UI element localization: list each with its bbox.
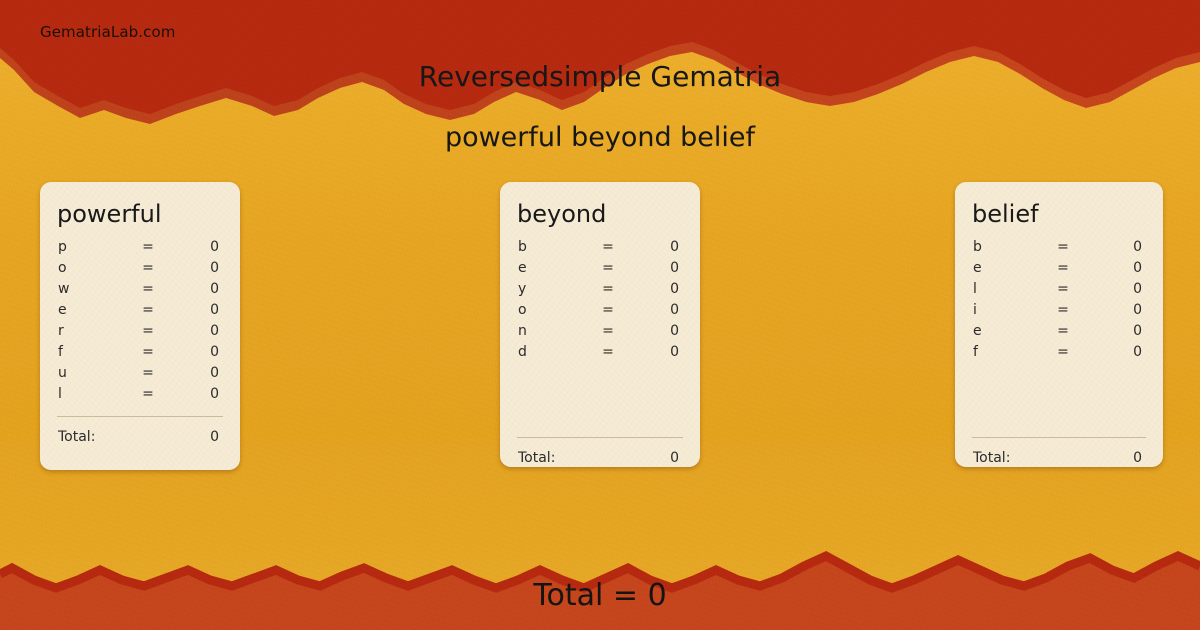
equals-sign: = [586,239,630,255]
letter-value: 0 [170,302,226,318]
word-card: belief b = 0 e = 0 l = 0 [955,182,1163,467]
equals-sign: = [586,344,630,360]
letter-value: 0 [170,281,226,297]
letter: d [514,344,586,360]
card-word-title: belief [969,202,1149,227]
letter: n [514,323,586,339]
letter-row: f = 0 [54,344,226,365]
card-word-title: powerful [54,202,226,227]
letter-value: 0 [1085,323,1149,339]
letter-rows: p = 0 o = 0 w = 0 e [54,239,226,407]
equals-sign: = [126,302,170,318]
letter-value: 0 [630,281,686,297]
letter: i [969,302,1041,318]
equals-sign: = [126,260,170,276]
equals-sign: = [126,239,170,255]
equals-sign: = [1041,239,1085,255]
card-total-label: Total: [514,450,555,466]
letter: e [969,323,1041,339]
letter-row: p = 0 [54,239,226,260]
letter-value: 0 [1085,239,1149,255]
card-total-value: 0 [555,450,686,466]
letter-value: 0 [630,302,686,318]
letter-row: l = 0 [54,386,226,407]
letter-value: 0 [170,260,226,276]
letter-row: b = 0 [514,239,686,260]
letter-rows: b = 0 e = 0 y = 0 o [514,239,686,365]
equals-sign: = [586,260,630,276]
equals-sign: = [1041,302,1085,318]
letter-value: 0 [630,260,686,276]
letter: e [54,302,126,318]
letter-value: 0 [1085,344,1149,360]
equals-sign: = [126,365,170,381]
letter: b [514,239,586,255]
card-word-title: beyond [514,202,686,227]
letter-row: l = 0 [969,281,1149,302]
word-card: beyond b = 0 e = 0 y = 0 [500,182,700,467]
letter: y [514,281,586,297]
letter-value: 0 [1085,260,1149,276]
card-total-label: Total: [969,450,1010,466]
letter: f [54,344,126,360]
letter-value: 0 [1085,281,1149,297]
page-title: Reversedsimple Gematria [0,60,1200,93]
letter-row: e = 0 [969,260,1149,281]
equals-sign: = [126,386,170,402]
word-cards-container: powerful p = 0 o = 0 w = 0 [0,182,1200,482]
letter-value: 0 [170,239,226,255]
letter-row: d = 0 [514,344,686,365]
letter: e [969,260,1041,276]
letter-value: 0 [630,239,686,255]
letter: l [969,281,1041,297]
letter-value: 0 [170,344,226,360]
letter-row: o = 0 [54,260,226,281]
letter-row: w = 0 [54,281,226,302]
equals-sign: = [586,323,630,339]
letter-value: 0 [630,344,686,360]
letter-row: o = 0 [514,302,686,323]
letter-row: u = 0 [54,365,226,386]
letter-row: i = 0 [969,302,1149,323]
letter: o [54,260,126,276]
letter-row: e = 0 [514,260,686,281]
equals-sign: = [1041,323,1085,339]
letter-value: 0 [630,323,686,339]
letter-row: b = 0 [969,239,1149,260]
equals-sign: = [586,302,630,318]
letter: e [514,260,586,276]
letter-row: n = 0 [514,323,686,344]
site-logo[interactable]: GematriaLab.com [40,23,175,41]
letter-row: f = 0 [969,344,1149,365]
letter-value: 0 [1085,302,1149,318]
word-card: powerful p = 0 o = 0 w = 0 [40,182,240,470]
letter-row: y = 0 [514,281,686,302]
equals-sign: = [126,344,170,360]
equals-sign: = [1041,344,1085,360]
letter: r [54,323,126,339]
letter: u [54,365,126,381]
equals-sign: = [126,323,170,339]
letter: f [969,344,1041,360]
letter-value: 0 [170,323,226,339]
grand-total: Total = 0 [0,578,1200,613]
card-total-row: Total: 0 [54,417,226,445]
gematria-card-image: GematriaLab.com Reversedsimple Gematria … [0,0,1200,630]
phrase-heading: powerful beyond belief [0,122,1200,153]
letter-row: e = 0 [54,302,226,323]
card-total-row: Total: 0 [969,438,1149,466]
letter-value: 0 [170,386,226,402]
letter-row: r = 0 [54,323,226,344]
letter: p [54,239,126,255]
equals-sign: = [1041,281,1085,297]
card-total-label: Total: [54,429,95,445]
letter: l [54,386,126,402]
equals-sign: = [1041,260,1085,276]
equals-sign: = [126,281,170,297]
equals-sign: = [586,281,630,297]
letter: w [54,281,126,297]
card-total-value: 0 [1010,450,1149,466]
letter-value: 0 [170,365,226,381]
letter: b [969,239,1041,255]
letter-rows: b = 0 e = 0 l = 0 i [969,239,1149,365]
card-total-value: 0 [95,429,226,445]
letter-row: e = 0 [969,323,1149,344]
card-total-row: Total: 0 [514,438,686,466]
letter: o [514,302,586,318]
